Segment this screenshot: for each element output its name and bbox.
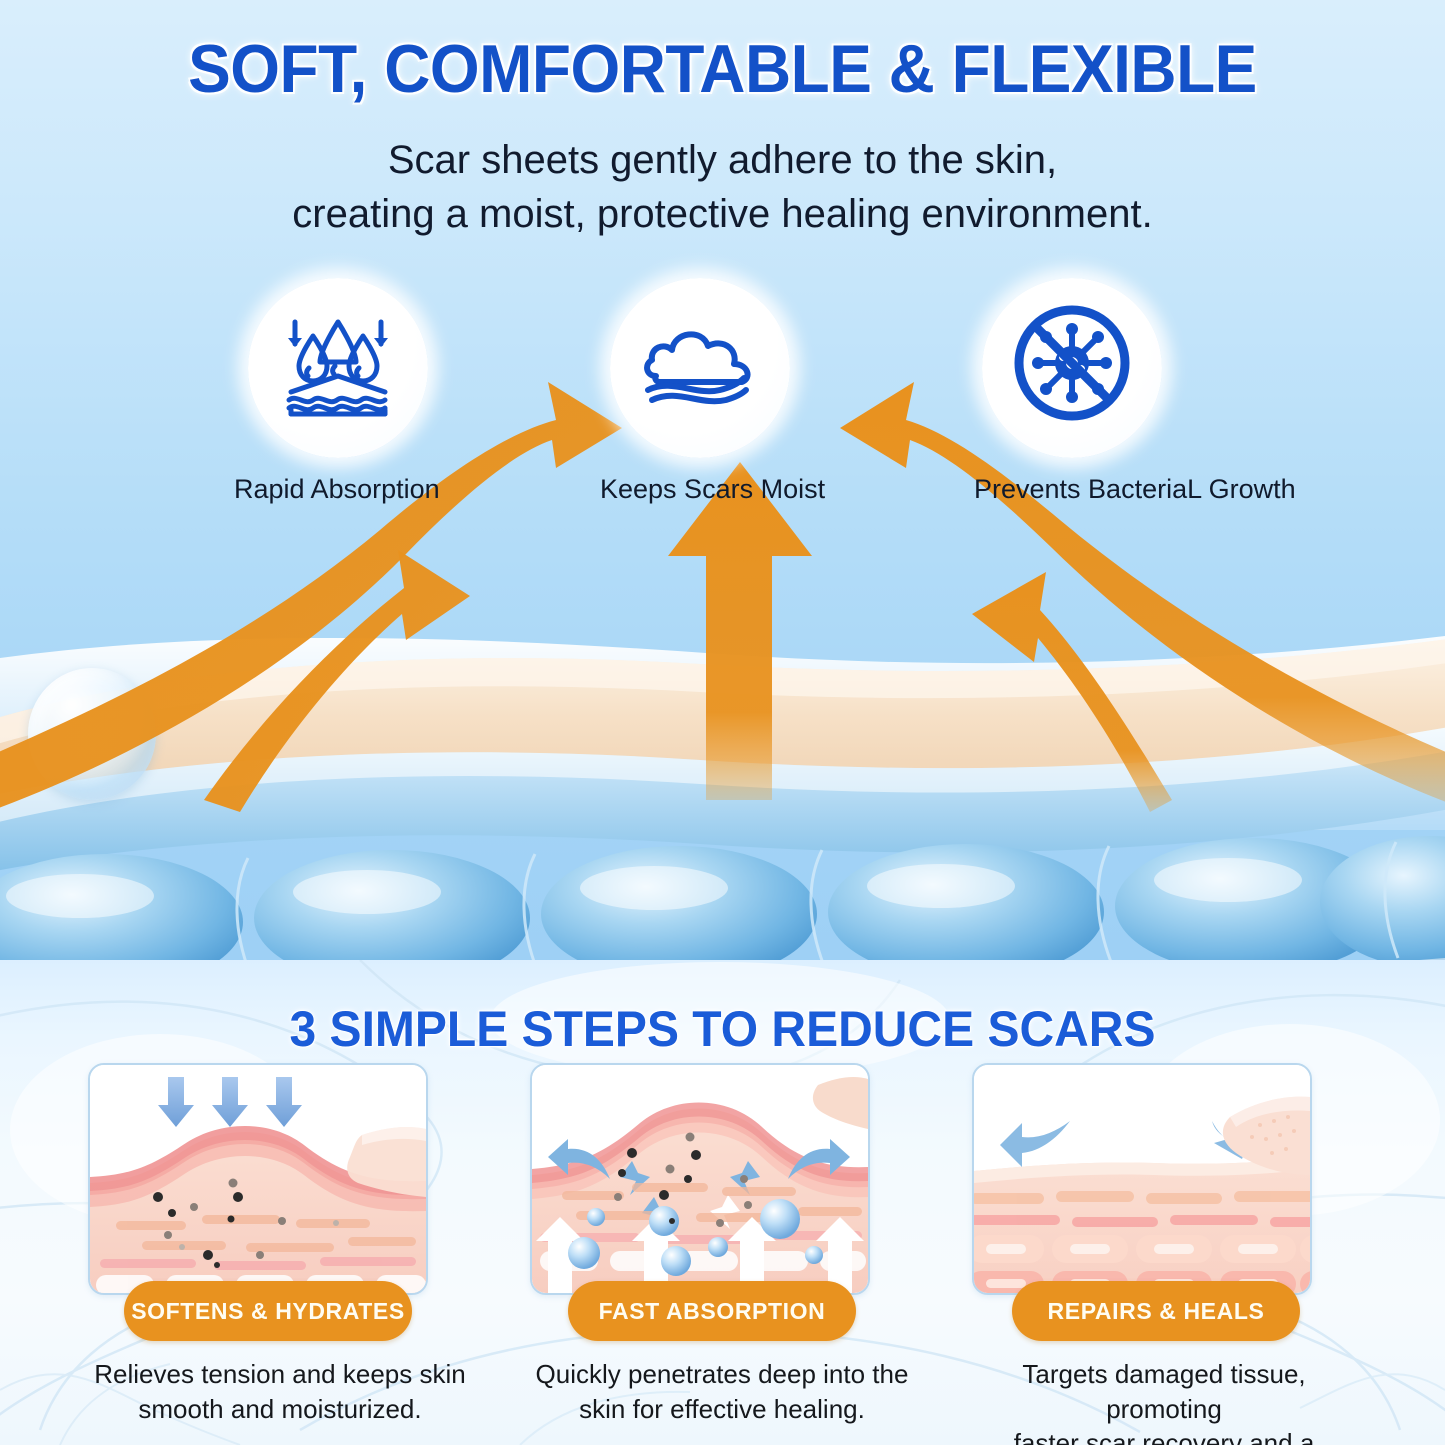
step-caption-1: Relieves tension and keeps skin smooth a… [80, 1357, 480, 1426]
caption-line: skin for effective healing. [522, 1392, 922, 1427]
feature-label: Keeps Scars Moist [600, 474, 800, 505]
caption-line: Relieves tension and keeps skin [80, 1357, 480, 1392]
feature-label: Rapid Absorption [234, 474, 438, 505]
step-badge-2: FAST ABSORPTION [568, 1281, 856, 1341]
moisture-cloud-icon [638, 320, 762, 417]
page-title: SOFT, COMFORTABLE & FLEXIBLE [43, 30, 1401, 108]
feature-prevents-bacterial-growth: Prevents BacteriaL Growth [972, 278, 1172, 505]
step-card-2 [530, 1063, 870, 1295]
feature-icon-circle [248, 278, 428, 458]
caption-line: Quickly penetrates deep into the [522, 1357, 922, 1392]
step-caption-2: Quickly penetrates deep into the skin fo… [522, 1357, 922, 1426]
caption-line: smooth and moisturized. [80, 1392, 480, 1427]
step-card-3 [972, 1063, 1312, 1295]
no-bacteria-icon [1011, 305, 1133, 432]
step-badge-3: REPAIRS & HEALS [1012, 1281, 1300, 1341]
feature-rapid-absorption: Rapid Absorption [238, 278, 438, 505]
step-caption-3: Targets damaged tissue, promoting faster… [964, 1357, 1364, 1445]
feature-label: Prevents BacteriaL Growth [974, 474, 1172, 505]
feature-icon-circle [610, 278, 790, 458]
step-card-1 [88, 1063, 428, 1295]
water-droplets-absorption-icon [279, 314, 397, 423]
caption-line: Targets damaged tissue, promoting [964, 1357, 1364, 1426]
feature-keeps-scars-moist: Keeps Scars Moist [600, 278, 800, 505]
page-subtitle: Scar sheets gently adhere to the skin, c… [0, 133, 1445, 241]
infographic-canvas: SOFT, COMFORTABLE & FLEXIBLE Scar sheets… [0, 0, 1445, 1445]
caption-line: faster scar recovery and a [964, 1426, 1364, 1445]
feature-icon-circle [982, 278, 1162, 458]
subtitle-line-1: Scar sheets gently adhere to the skin, [0, 133, 1445, 187]
subtitle-line-2: creating a moist, protective healing env… [0, 187, 1445, 241]
step-badge-1: SOFTENS & HYDRATES [124, 1281, 412, 1341]
steps-section-title: 3 SIMPLE STEPS TO REDUCE SCARS [29, 1000, 1416, 1058]
